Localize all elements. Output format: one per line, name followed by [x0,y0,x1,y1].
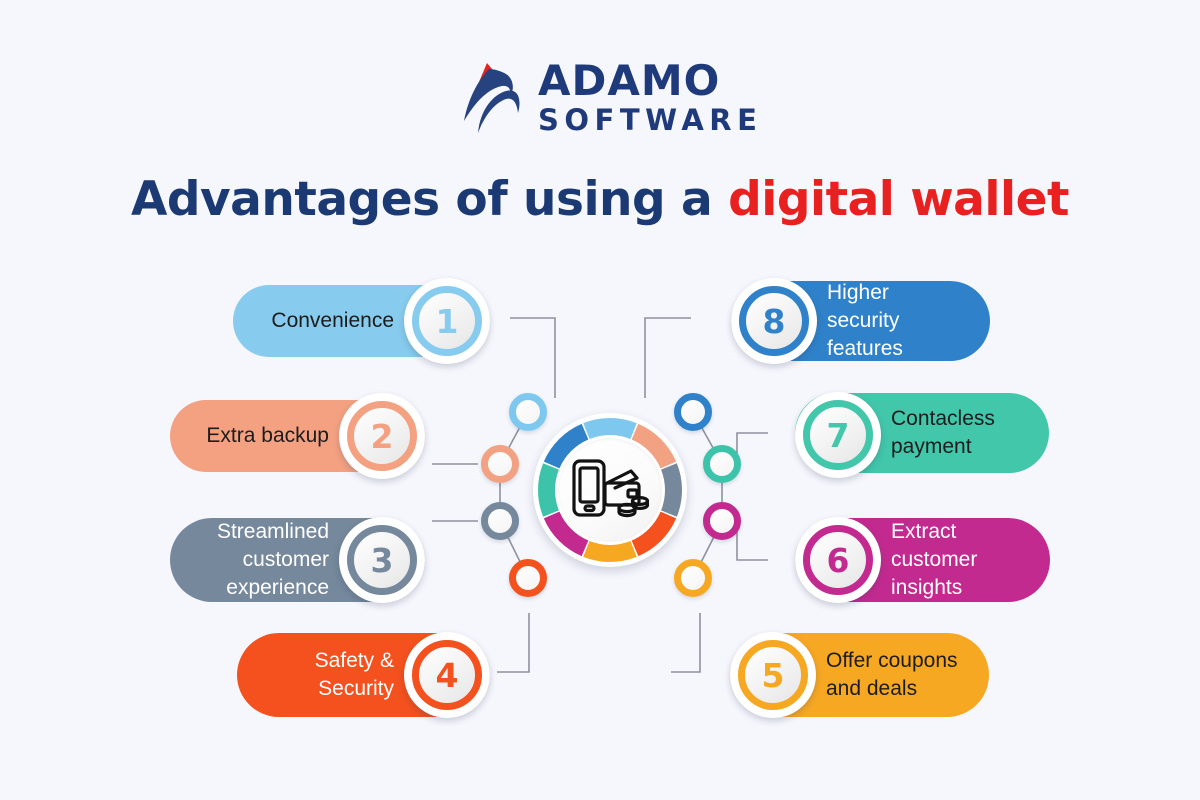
badge-ring-3: 3 [347,525,417,595]
advantage-badge-4[interactable]: 4 [404,632,490,718]
hub-core [558,438,662,542]
connector-chain-right [693,412,722,578]
connector-node-3 [481,502,519,540]
advantage-label-2: Extra backup [206,422,329,450]
badge-number-4: 4 [436,659,459,692]
badge-ring-4: 4 [412,640,482,710]
advantage-badge-2[interactable]: 2 [339,393,425,479]
badge-number-3: 3 [371,544,394,577]
advantage-label-8: Higher security features [827,279,966,362]
badge-ring-8: 8 [739,286,809,356]
badge-ring-6: 6 [803,525,873,595]
hub-ring-segment-7 [538,463,559,517]
elbow-4 [497,613,529,672]
elbow-7 [737,433,768,464]
badge-number-7: 7 [827,419,850,452]
badge-number-2: 2 [371,420,394,453]
badge-ring-7: 7 [803,400,873,470]
elbow-8 [645,318,691,398]
badge-ring-2: 2 [347,401,417,471]
connector-node-7 [703,445,741,483]
elbow-5 [671,613,700,672]
advantage-label-5: Offer coupons and deals [826,647,965,702]
badge-ring-5: 5 [738,640,808,710]
advantage-badge-3[interactable]: 3 [339,517,425,603]
badge-number-6: 6 [827,544,850,577]
elbow-1 [510,318,555,398]
hub-ring-segment-5 [583,541,637,562]
advantage-badge-5[interactable]: 5 [730,632,816,718]
advantage-label-6: Extract customer insights [891,518,1026,601]
hub-ring-segment-1 [583,418,637,439]
center-hub [533,413,687,567]
advantage-badge-8[interactable]: 8 [731,278,817,364]
advantage-badge-7[interactable]: 7 [795,392,881,478]
badge-number-1: 1 [436,305,459,338]
badge-number-5: 5 [762,659,785,692]
connector-chain-left [500,412,528,578]
advantage-label-3: Streamlined customer experience [194,518,329,601]
advantage-badge-6[interactable]: 6 [795,517,881,603]
badge-ring-1: 1 [412,286,482,356]
connector-node-6 [703,502,741,540]
smartphone-wallet-coins-icon [571,457,649,524]
badge-number-8: 8 [763,305,786,338]
advantage-label-7: Contacless payment [891,405,1025,460]
advantage-label-1: Convenience [271,307,394,335]
advantage-label-4: Safety & Security [261,647,394,702]
elbow-6 [737,521,768,560]
advantage-badge-1[interactable]: 1 [404,278,490,364]
advantages-diagram: Convenience1Extra backup2Streamlined cus… [0,0,1200,800]
connector-node-2 [481,445,519,483]
hub-ring-segment-3 [661,463,682,517]
